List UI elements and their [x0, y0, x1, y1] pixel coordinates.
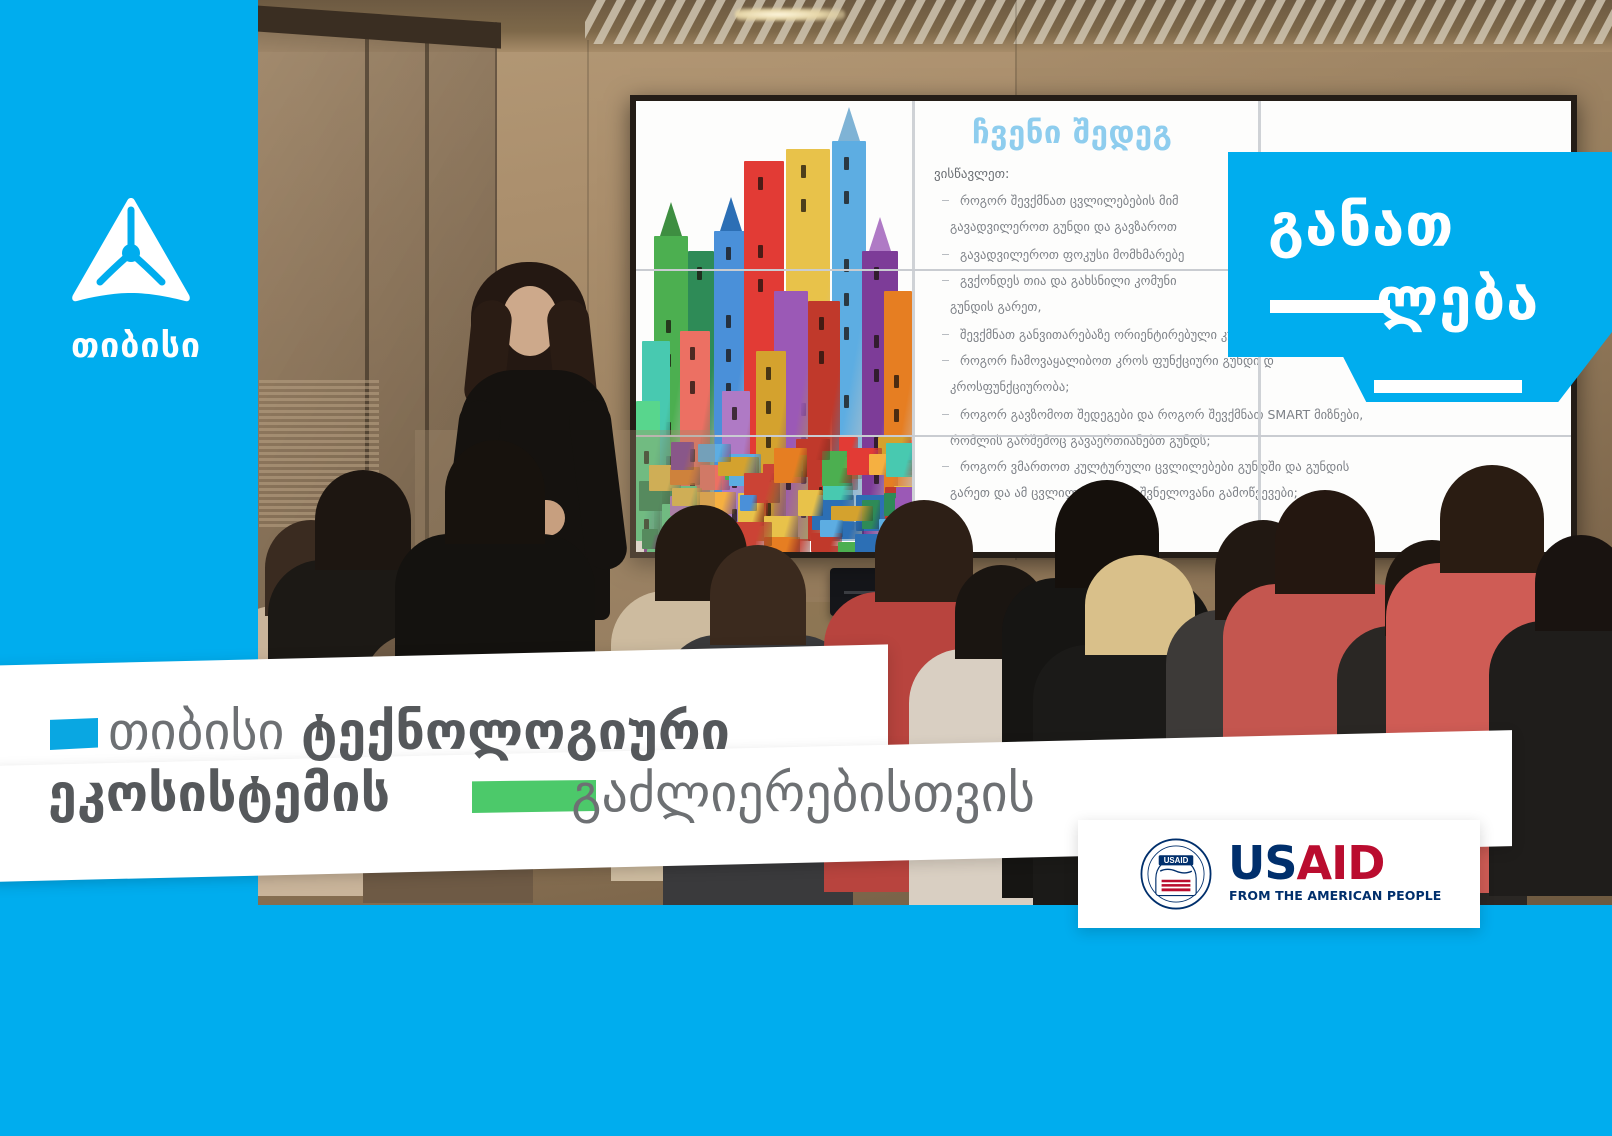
- usaid-aid: AID: [1296, 836, 1384, 890]
- block-window: [666, 320, 671, 333]
- bullet-dash: [942, 360, 949, 361]
- bullet-dash: [942, 466, 949, 467]
- tbc-triangle-logo: [70, 196, 192, 304]
- block-window: [801, 199, 806, 212]
- block-window: [844, 395, 849, 408]
- poster-canvas: ჩვენი შედეგ ვისწავლეთ: როგორ შევქმნათ ცვ…: [0, 0, 1612, 1136]
- audience-member-head: [1440, 465, 1544, 573]
- badge-line-2: ლება: [1376, 270, 1539, 328]
- ceiling-slats: [585, 0, 1612, 44]
- block-window: [690, 381, 695, 394]
- slide-title: ჩვენი შედეგ: [972, 115, 1172, 151]
- slide-bullet: როგორ ვმართოთ კულტურული ცვლილებები გუნდშ…: [960, 459, 1349, 474]
- slide-bullet: გავადვილეროთ გუნდი და გავზაროთ: [950, 219, 1177, 234]
- bullet-dash: [942, 334, 949, 335]
- blind-slat: [259, 440, 379, 443]
- block-window: [894, 409, 899, 422]
- blind-slat: [259, 434, 379, 437]
- block-spire: [660, 202, 682, 236]
- block-window: [690, 347, 695, 360]
- block-window: [844, 293, 849, 306]
- blind-slat: [259, 446, 379, 449]
- ganatleba-badge: განათ ლება: [1228, 152, 1612, 402]
- bullet-dash: [942, 414, 949, 415]
- block-spire: [869, 217, 891, 251]
- block-window: [801, 165, 806, 178]
- slide-bullet: კროსფუნქციურობა;: [950, 379, 1069, 394]
- svg-text:USAID: USAID: [1164, 856, 1189, 865]
- block-window: [844, 191, 849, 204]
- audience-member-head: [445, 440, 545, 544]
- block-window: [726, 349, 731, 362]
- audience-member-head: [315, 470, 411, 570]
- block-piece: [820, 520, 843, 537]
- block-window: [766, 367, 771, 380]
- usaid-seal-icon: USAID: [1140, 838, 1212, 910]
- slide-bullet: როგორ შევქმნათ ცვლილებების მიმ: [960, 193, 1179, 208]
- audience-member-head: [875, 500, 973, 602]
- badge-line-1: განათ: [1268, 196, 1454, 254]
- blind-slat: [259, 410, 379, 413]
- slide-bullet: როგორ ჩამოვაყალიბოთ კროს ფუნქციური გუნდი…: [960, 353, 1274, 368]
- block-window: [758, 177, 763, 190]
- headline-word-strengthening: გაძლიერებისთვის: [571, 764, 1035, 824]
- usaid-wordmark: USAID: [1228, 840, 1384, 886]
- block-window: [874, 335, 879, 348]
- bullet-dash: [942, 280, 949, 281]
- slide-bullet: გუნდის გარეთ,: [950, 299, 1041, 314]
- audience-member-head: [1535, 535, 1612, 631]
- blind-slat: [259, 452, 379, 455]
- blind-slat: [259, 386, 379, 389]
- block-window: [758, 245, 763, 258]
- block-spire: [720, 197, 742, 231]
- block-window: [766, 401, 771, 414]
- headline-word-technological: ტექნოლოგიური: [301, 702, 730, 762]
- block-piece: [740, 495, 756, 511]
- block-window: [894, 375, 899, 388]
- bullet-dash: [942, 200, 949, 201]
- blind-slat: [259, 392, 379, 395]
- block-window: [819, 317, 824, 330]
- blind-slat: [259, 380, 379, 383]
- blue-accent-square: [50, 718, 98, 750]
- block-window: [732, 407, 737, 420]
- block-window: [844, 157, 849, 170]
- usaid-us: US: [1228, 836, 1296, 890]
- block-piece: [886, 443, 912, 477]
- slide-bullet: გავადვილეროთ ფოკუსი მომხმარებე: [960, 247, 1184, 262]
- block-window: [844, 327, 849, 340]
- block-window: [874, 369, 879, 382]
- headline-word-ecosystem: ეკოსისტემის: [48, 764, 390, 824]
- blind-slat: [259, 422, 379, 425]
- usaid-tagline: FROM THE AMERICAN PEOPLE: [1229, 888, 1441, 903]
- block-piece: [798, 490, 822, 517]
- headline-line-1: თიბისი ტექნოლოგიური: [108, 706, 730, 758]
- blind-slat: [259, 398, 379, 401]
- slide-lead: ვისწავლეთ:: [934, 167, 1009, 182]
- blind-slat: [259, 404, 379, 407]
- blind-slat: [259, 428, 379, 431]
- left-brand-panel: თიბისი: [0, 0, 258, 1136]
- slide-bullet: როგორ გავზომოთ შედეგები და როგორ შევქმნა…: [960, 407, 1363, 422]
- blind-slat: [259, 464, 379, 467]
- blind-slat: [259, 458, 379, 461]
- headline-line-2: ეკოსისტემის გაძლიერებისთვის: [48, 768, 1035, 820]
- slide-bullet: გვქონდეს თია და გახსნილი კომუნი: [960, 273, 1177, 288]
- badge-underline-2: [1374, 380, 1522, 393]
- block-window: [726, 315, 731, 328]
- slide-bullet: შევქმნათ განვითარებაზე ორიენტირებული კულ…: [960, 327, 1255, 342]
- block-window: [758, 279, 763, 292]
- headline-word-tbc: თიბისი: [108, 702, 284, 762]
- ceiling-lamp: [735, 8, 845, 21]
- audience-member-head: [1275, 490, 1375, 594]
- bullet-dash: [942, 254, 949, 255]
- audience-member-head: [710, 545, 806, 645]
- block-piece: [774, 448, 807, 483]
- block-window: [819, 351, 824, 364]
- blind-slat: [259, 416, 379, 419]
- badge-underline-1: [1270, 300, 1390, 313]
- block-spire: [838, 107, 860, 141]
- tbc-wordmark: თიბისი: [46, 326, 226, 366]
- block-window: [726, 247, 731, 260]
